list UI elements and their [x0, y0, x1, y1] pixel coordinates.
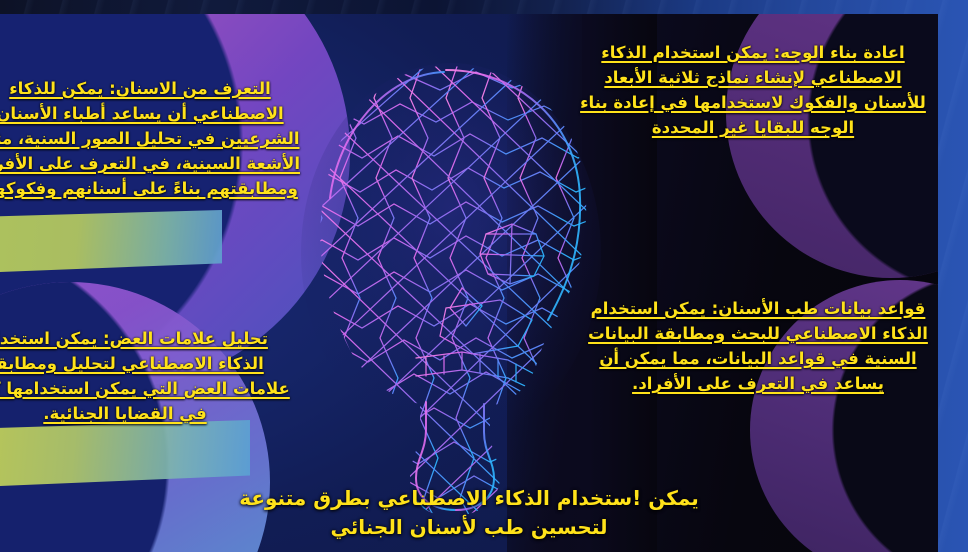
- text-block-tooth-identification: التعرف من الاسنان: يمكن للذكاء الاصطناعي…: [0, 76, 314, 201]
- presentation-slide: التعرف من الاسنان: يمكن للذكاء الاصطناعي…: [0, 14, 938, 552]
- text-block-dental-databases: قواعد بيانات طب الأسنان: يمكن استخدام ال…: [588, 296, 928, 396]
- text-block-facial-reconstruction: اعادة بناء الوجه: يمكن استخدام الذكاء ال…: [574, 40, 932, 140]
- slide-stage: التعرف من الاسنان: يمكن للذكاء الاصطناعي…: [0, 0, 968, 552]
- slide-caption: يمكن !ستخدام الذكاء الاصطناعي بطرق متنوع…: [0, 484, 938, 542]
- text-block-bite-mark-analysis: تحليل علامات العض: يمكن استخدام الذكاء ا…: [0, 326, 290, 426]
- caption-line-2: لتحسين طب لأسنان الجنائي: [0, 513, 938, 542]
- wireframe-head-graphic: [286, 58, 616, 528]
- caption-line-1: يمكن !ستخدام الذكاء الاصطناعي بطرق متنوع…: [0, 484, 938, 513]
